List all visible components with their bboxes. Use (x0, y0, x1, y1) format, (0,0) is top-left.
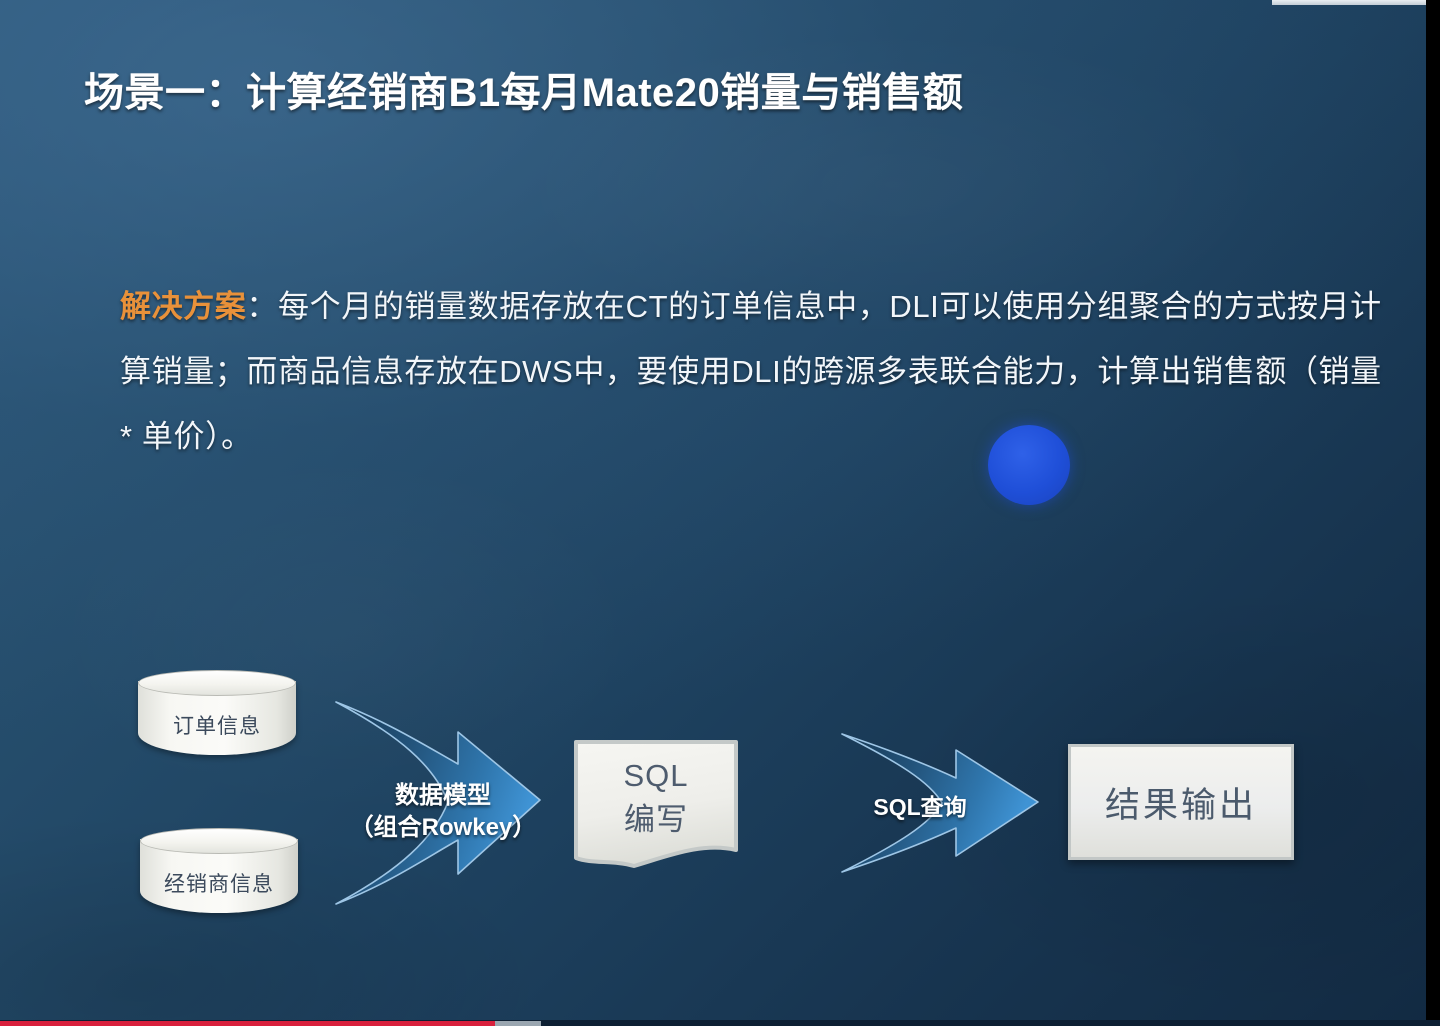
merge-arrow-label: 数据模型 （组合Rowkey） (318, 780, 568, 844)
result-output-label: 结果输出 (1105, 777, 1257, 828)
page-title: 场景一：计算经销商B1每月Mate20销量与销售额 (84, 60, 963, 118)
player-top-strip (1272, 0, 1435, 5)
merge-arrow-label-line2: （组合Rowkey） (318, 812, 568, 844)
player-progress-buffer (495, 1021, 541, 1026)
solution-body: 每个月的销量数据存放在CT的订单信息中，DLI可以使用分组聚合的方式按月计算销量… (120, 289, 1382, 454)
player-right-border (1426, 0, 1440, 1026)
sql-note-card: SQL 编写 (572, 738, 740, 870)
blue-dot-decoration (988, 425, 1070, 505)
result-output-box: 结果输出 (1068, 744, 1294, 860)
solution-label: 解决方案 (120, 289, 246, 324)
cylinder-top-ellipse (138, 670, 296, 696)
sql-card-line1: SQL (572, 754, 740, 798)
flow-diagram: 订单信息 经销商信息 数据模型 （组合Rowkey） (0, 640, 1440, 970)
cylinder-top-ellipse (140, 828, 298, 854)
cylinder-label: 订单信息 (138, 710, 296, 740)
sql-card-text: SQL 编写 (572, 754, 740, 842)
database-cylinder-dealers: 经销商信息 (140, 828, 298, 924)
solution-paragraph: 解决方案：每个月的销量数据存放在CT的订单信息中，DLI可以使用分组聚合的方式按… (120, 274, 1400, 469)
player-progress-played[interactable] (0, 1021, 495, 1026)
cylinder-label: 经销商信息 (140, 868, 298, 898)
slide-canvas: 场景一：计算经销商B1每月Mate20销量与销售额 解决方案：每个月的销量数据存… (0, 0, 1440, 1026)
solution-colon: ： (246, 289, 278, 324)
flow-arrow-label: SQL查询 (840, 788, 1000, 822)
sql-card-line2: 编写 (572, 798, 740, 842)
merge-arrow-label-line1: 数据模型 (318, 780, 568, 812)
database-cylinder-orders: 订单信息 (138, 670, 296, 766)
